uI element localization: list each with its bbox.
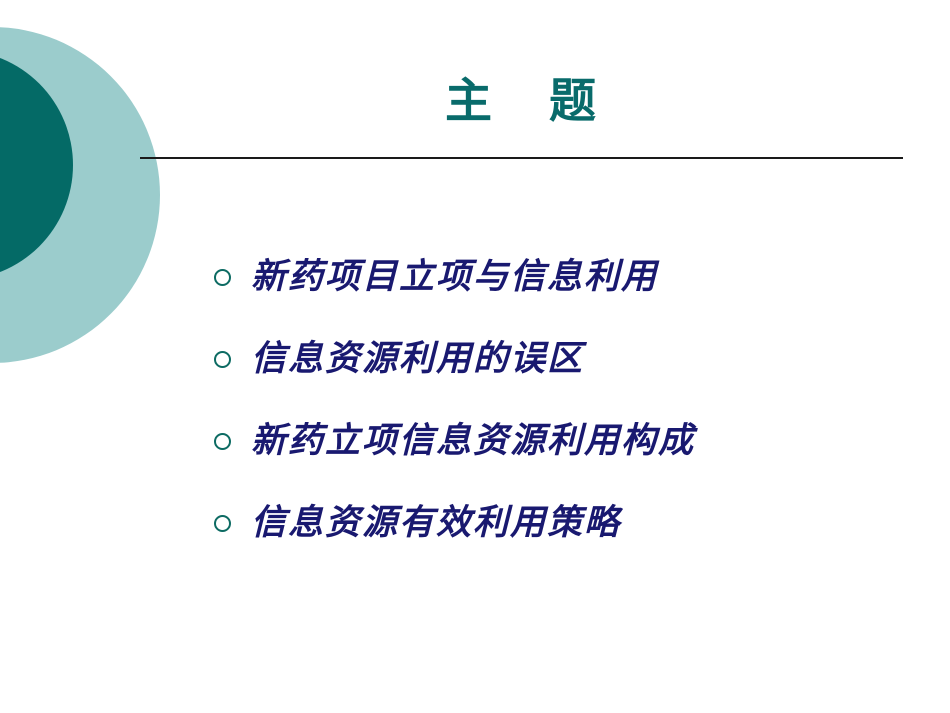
presentation-slide: 主 题 新药项目立项与信息利用 信息资源利用的误区 新药立项信息资源利用构成 信… <box>0 0 950 713</box>
dark-teal-circle-icon <box>0 50 73 280</box>
light-teal-circle-icon <box>0 27 160 363</box>
hollow-circle-bullet-icon <box>214 351 231 368</box>
hollow-circle-bullet-icon <box>214 269 231 286</box>
list-item-label: 新药立项信息资源利用构成 <box>251 422 695 461</box>
page-title: 主 题 <box>140 76 903 128</box>
hollow-circle-bullet-icon <box>214 515 231 532</box>
list-item-label: 信息资源利用的误区 <box>251 340 584 379</box>
list-item-label: 新药项目立项与信息利用 <box>251 258 658 297</box>
list-item[interactable]: 信息资源利用的误区 <box>214 318 914 400</box>
list-item[interactable]: 新药项目立项与信息利用 <box>214 236 914 318</box>
title-divider <box>140 157 903 159</box>
hollow-circle-bullet-icon <box>214 433 231 450</box>
bullet-list: 新药项目立项与信息利用 信息资源利用的误区 新药立项信息资源利用构成 信息资源有… <box>214 236 914 564</box>
list-item-label: 信息资源有效利用策略 <box>251 504 621 543</box>
list-item[interactable]: 新药立项信息资源利用构成 <box>214 400 914 482</box>
list-item[interactable]: 信息资源有效利用策略 <box>214 482 914 564</box>
title-block: 主 题 <box>140 76 903 128</box>
